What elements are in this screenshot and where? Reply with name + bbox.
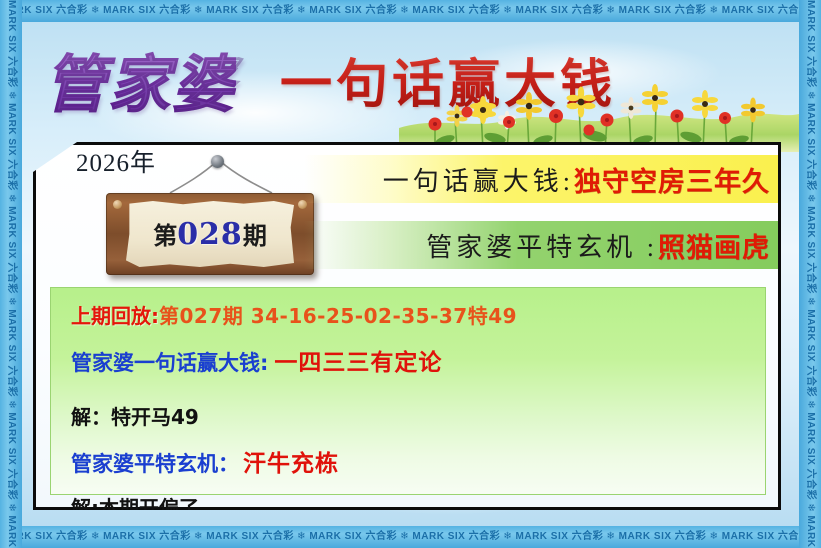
border-left: MARK SIX 六合彩 ❄ MARK SIX 六合彩 ❄ MARK SIX 六… (0, 0, 22, 548)
riddle-value: 汗牛充栋 (243, 444, 339, 478)
saying-value: 一四三三有定论 (274, 343, 442, 377)
border-bottom: MARK SIX 六合彩 ❄ MARK SIX 六合彩 ❄ MARK SIX 六… (0, 526, 821, 548)
banner-riddle-value: 照猫画虎 (658, 226, 770, 265)
border-right-text: MARK SIX 六合彩 ❄ MARK SIX 六合彩 ❄ MARK SIX 六… (799, 0, 821, 548)
border-right: MARK SIX 六合彩 ❄ MARK SIX 六合彩 ❄ MARK SIX 六… (799, 0, 821, 548)
page-root: 管家婆 一句话赢大钱 (0, 0, 821, 548)
issue-text: 第028期 (153, 216, 267, 252)
border-bottom-text: MARK SIX 六合彩 ❄ MARK SIX 六合彩 ❄ MARK SIX 六… (0, 526, 821, 548)
content-box: 上期回放: 第027期 34-16-25-02-35-37特49 管家婆一句话赢… (50, 287, 766, 495)
banner-saying-value: 独守空房三年久 (574, 160, 770, 199)
issue-prefix: 第 (153, 221, 177, 250)
answer-1-text: 解：特开马49 (71, 401, 199, 430)
saying-label: 管家婆一句话赢大钱: (71, 347, 268, 377)
brand-title: 管家婆 (44, 34, 236, 124)
border-top-text: MARK SIX 六合彩 ❄ MARK SIX 六合彩 ❄ MARK SIX 六… (0, 0, 821, 22)
riddle-row: 管家婆平特玄机： 汗牛充栋 (71, 444, 749, 478)
masthead: 管家婆 一句话赢大钱 (22, 22, 799, 152)
banner-saying-label: 一句话赢大钱: (383, 161, 574, 198)
border-left-text: MARK SIX 六合彩 ❄ MARK SIX 六合彩 ❄ MARK SIX 六… (0, 0, 22, 548)
banner-riddle: 管家婆平特玄机 : 照猫画虎 (304, 221, 778, 269)
riddle-label: 管家婆平特玄机： (71, 448, 239, 478)
flower-decoration (399, 82, 799, 152)
sign-board: 第028期 (106, 193, 314, 275)
replay-row: 上期回放: 第027期 34-16-25-02-35-37特49 (71, 300, 749, 329)
sign-paper: 第028期 (126, 201, 294, 267)
replay-label: 上期回放: (71, 300, 159, 329)
saying-row: 管家婆一句话赢大钱: 一四三三有定论 (71, 343, 749, 377)
issue-number: 028 (177, 217, 243, 252)
replay-value: 第027期 34-16-25-02-35-37特49 (159, 300, 517, 329)
banner-riddle-label: 管家婆平特玄机 : (426, 227, 658, 264)
border-top: MARK SIX 六合彩 ❄ MARK SIX 六合彩 ❄ MARK SIX 六… (0, 0, 821, 22)
nail-icon (211, 155, 224, 168)
issue-sign: 第028期 (84, 149, 334, 279)
banner-saying: 一句话赢大钱: 独守空房三年久 (304, 155, 778, 203)
answer-row-1: 解：特开马49 (71, 401, 749, 430)
issue-suffix: 期 (243, 221, 267, 250)
main-panel: 2026年 第028期 一句话赢大钱: 独守空房三年久 (33, 142, 781, 510)
